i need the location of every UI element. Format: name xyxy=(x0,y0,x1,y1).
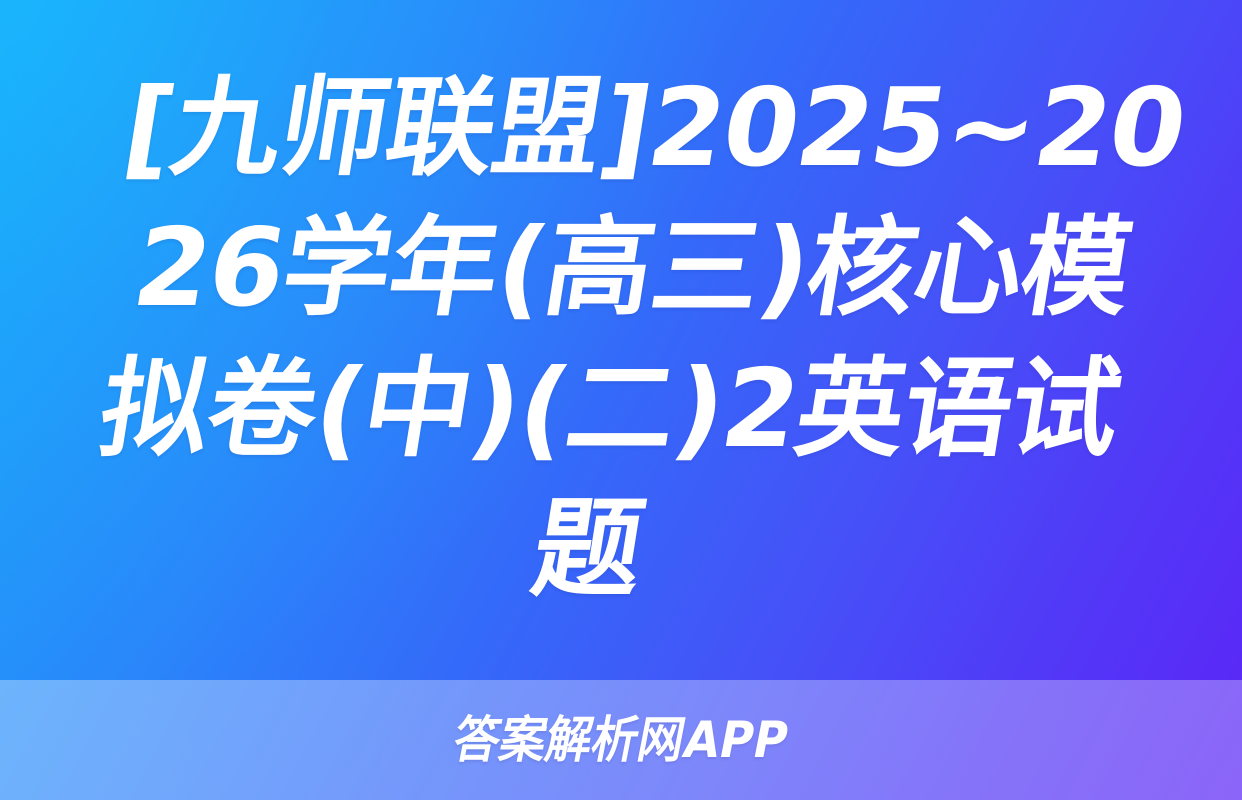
page-title: [九师联盟]2025~2026学年(高三)核心模拟卷(中)(二)2英语试题 xyxy=(44,59,1199,621)
title-area: [九师联盟]2025~2026学年(高三)核心模拟卷(中)(二)2英语试题 xyxy=(0,0,1242,680)
watermark-label: 答案解析网APP xyxy=(450,715,793,765)
watermark-bar: 答案解析网APP xyxy=(0,680,1242,800)
exam-cover-card: [九师联盟]2025~2026学年(高三)核心模拟卷(中)(二)2英语试题 答案… xyxy=(0,0,1242,800)
